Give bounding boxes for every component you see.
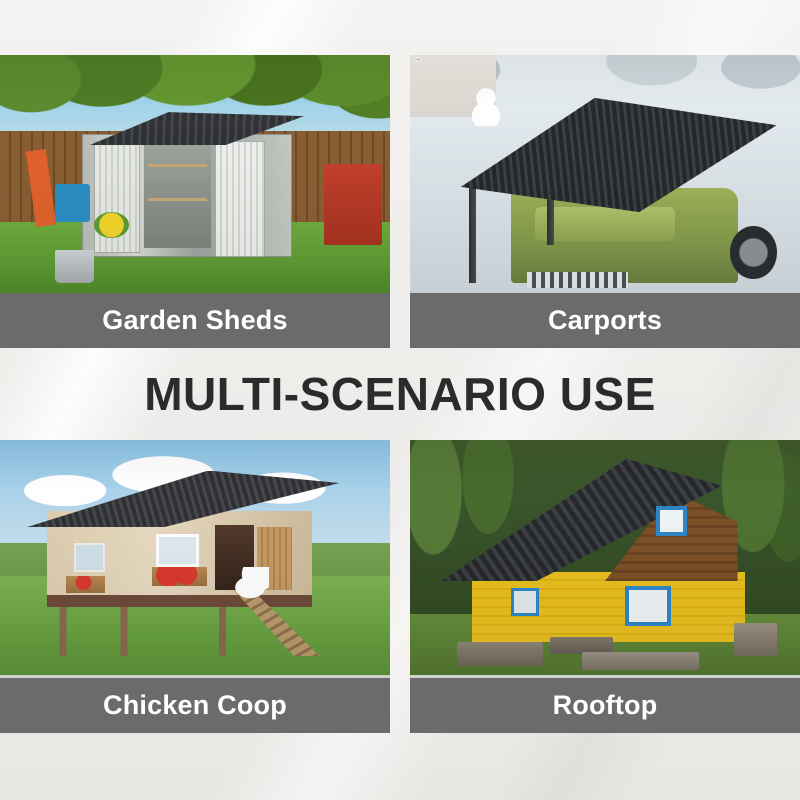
caption-bar-chicken-coop: Chicken Coop: [0, 678, 390, 733]
panel-chicken-coop: Chicken Coop: [0, 440, 390, 733]
scene-rooftop: [410, 440, 800, 675]
caption-label: Carports: [548, 305, 662, 336]
panel-rooftop: Rooftop: [410, 440, 800, 733]
house-window: [415, 57, 422, 63]
shed-interior: [144, 143, 210, 248]
shed-shelf-upper: [148, 164, 207, 167]
caption-label: Chicken Coop: [103, 690, 287, 721]
scene-carport: [410, 55, 800, 293]
panel-garden-sheds: Garden Sheds: [0, 55, 390, 348]
coop-window-front: [156, 534, 199, 567]
poster: Garden Sheds Carports: [0, 0, 800, 800]
gable-window: [656, 506, 687, 537]
caption-label: Garden Sheds: [102, 305, 287, 336]
metal-bucket: [55, 250, 94, 283]
headline-text: MULTI-SCENARIO USE: [144, 367, 656, 421]
wooden-chair: [734, 623, 777, 656]
caption-label: Rooftop: [553, 690, 658, 721]
picnic-bench-left: [457, 642, 543, 666]
white-hen: [234, 567, 269, 600]
suv-grille: [527, 272, 628, 289]
photo-rooftop: [410, 440, 800, 675]
carport-post-front: [469, 184, 477, 284]
water-barrel: [55, 184, 90, 222]
caption-bar-garden-sheds: Garden Sheds: [0, 293, 390, 348]
shed-door-right: [215, 141, 266, 258]
headline-band: MULTI-SCENARIO USE: [0, 348, 800, 440]
flower-pot: [94, 212, 129, 238]
coop-base-trim: [47, 595, 312, 607]
picnic-table: [582, 652, 699, 671]
photo-chicken-coop: [0, 440, 390, 675]
flower-box-side: [66, 576, 105, 592]
coop-stilts: [55, 605, 289, 657]
potting-bench: [324, 164, 383, 245]
photo-garden-sheds: [0, 55, 390, 293]
caption-bar-carports: Carports: [410, 293, 800, 348]
shed-shelf-lower: [148, 198, 207, 201]
snowman: [472, 88, 499, 126]
suv-hood: [535, 207, 675, 240]
coop-window-side: [74, 543, 105, 571]
scene-garden-shed: [0, 55, 390, 293]
side-window: [511, 588, 538, 616]
scene-chicken-coop: [0, 440, 390, 675]
panel-carports: Carports: [410, 55, 800, 348]
photo-carports: [410, 55, 800, 293]
main-window: [625, 586, 672, 626]
suv-wheel: [730, 226, 777, 278]
flower-box-front: [152, 567, 207, 586]
caption-bar-rooftop: Rooftop: [410, 678, 800, 733]
